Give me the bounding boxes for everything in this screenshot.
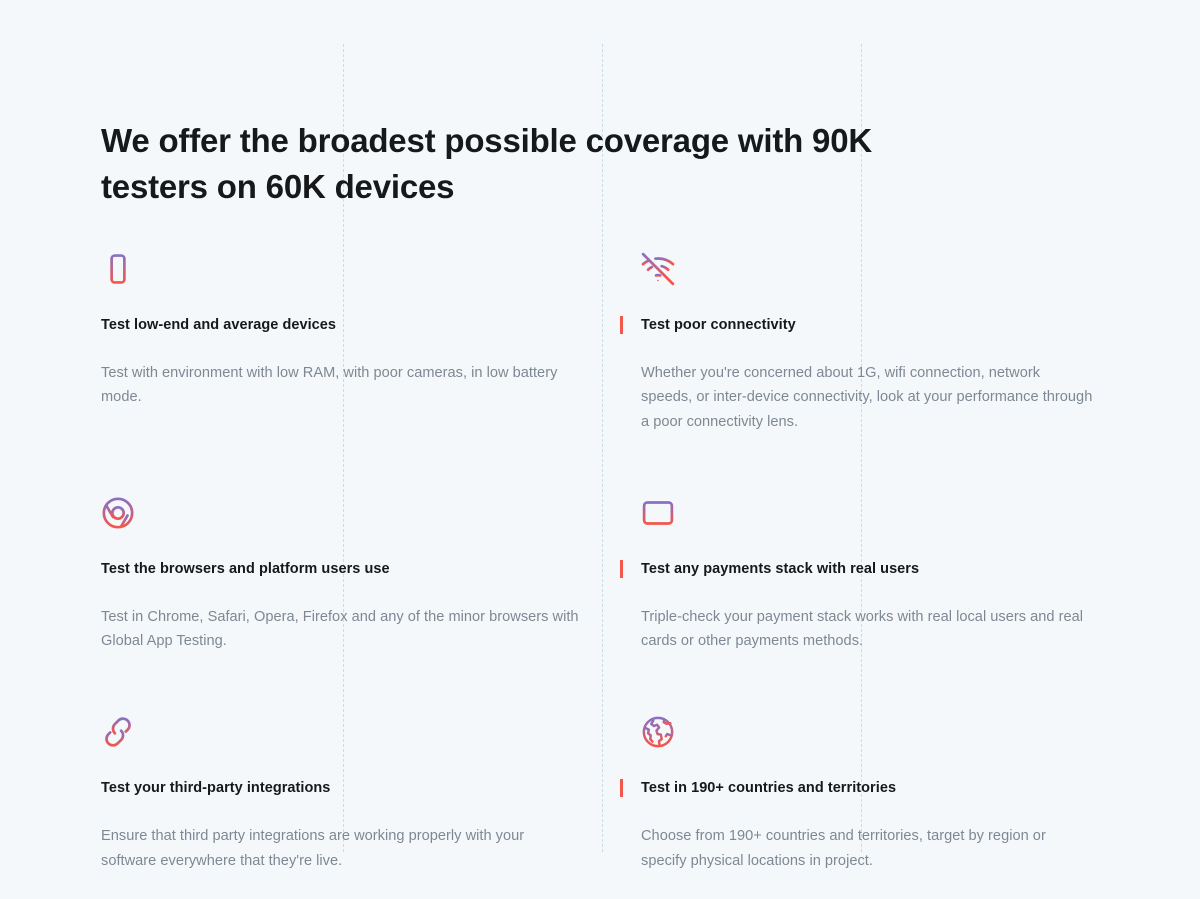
feature-card-countries-territories: Test in 190+ countries and territories C…: [620, 715, 1111, 873]
feature-body: Triple-check your payment stack works wi…: [641, 605, 1093, 654]
content-container: We offer the broadest possible coverage …: [101, 118, 1111, 873]
feature-body: Whether you're concerned about 1G, wifi …: [641, 361, 1093, 434]
feature-heading: Test the browsers and platform users use: [101, 559, 602, 579]
wifi-off-icon: [620, 252, 1093, 286]
globe-icon: [620, 715, 1093, 749]
link-chain-icon: [101, 715, 602, 749]
feature-card-poor-connectivity: Test poor connectivity Whether you're co…: [620, 252, 1111, 434]
feature-body: Ensure that third party integrations are…: [101, 824, 581, 873]
feature-heading: Test low-end and average devices: [101, 315, 602, 335]
feature-body: Choose from 190+ countries and territori…: [641, 824, 1093, 873]
feature-grid: Test low-end and average devices Test wi…: [101, 252, 1111, 873]
feature-card-low-end-devices: Test low-end and average devices Test wi…: [101, 252, 620, 434]
feature-heading-label: Test poor connectivity: [641, 317, 796, 333]
mobile-phone-icon: [101, 252, 602, 286]
feature-coverage-page: We offer the broadest possible coverage …: [0, 0, 1200, 899]
accent-bar: [620, 779, 623, 797]
feature-heading: Test poor connectivity: [641, 315, 1093, 335]
feature-body: Test with environment with low RAM, with…: [101, 361, 581, 410]
feature-heading: Test any payments stack with real users: [641, 559, 1093, 579]
feature-card-browsers-platforms: Test the browsers and platform users use…: [101, 496, 620, 654]
page-title: We offer the broadest possible coverage …: [101, 118, 891, 210]
chrome-browser-icon: [101, 496, 602, 530]
credit-card-icon: [620, 496, 1093, 530]
feature-heading: Test in 190+ countries and territories: [641, 778, 1093, 798]
feature-heading-label: Test any payments stack with real users: [641, 561, 919, 577]
feature-heading-label: Test low-end and average devices: [101, 317, 336, 333]
feature-heading-label: Test in 190+ countries and territories: [641, 780, 896, 796]
accent-bar: [620, 560, 623, 578]
feature-heading: Test your third-party integrations: [101, 778, 602, 798]
feature-heading-label: Test your third-party integrations: [101, 780, 330, 796]
feature-heading-label: Test the browsers and platform users use: [101, 561, 390, 577]
feature-body: Test in Chrome, Safari, Opera, Firefox a…: [101, 605, 581, 654]
feature-card-payments-stack: Test any payments stack with real users …: [620, 496, 1111, 654]
feature-card-third-party-integrations: Test your third-party integrations Ensur…: [101, 715, 620, 873]
accent-bar: [620, 316, 623, 334]
